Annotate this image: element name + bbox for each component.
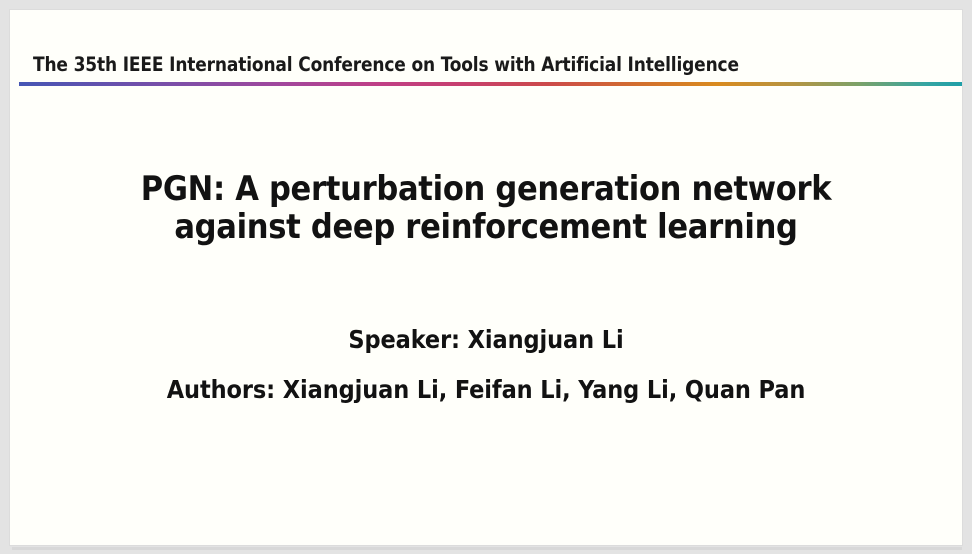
slide-body: PGN: A perturbation generation network a…	[10, 86, 962, 545]
presentation-title: PGN: A perturbation generation network a…	[10, 170, 962, 246]
presentation-title-line-1: PGN: A perturbation generation network	[70, 170, 902, 208]
speaker-label: Speaker: Xiangjuan Li	[10, 325, 962, 354]
authors-label: Authors: Xiangjuan Li, Feifan Li, Yang L…	[10, 375, 962, 404]
conference-title: The 35th IEEE International Conference o…	[33, 53, 739, 76]
slide-bottom-shadow	[12, 547, 962, 550]
slide-viewer: The 35th IEEE International Conference o…	[0, 0, 972, 554]
presentation-title-line-2: against deep reinforcement learning	[70, 208, 902, 246]
presentation-slide: The 35th IEEE International Conference o…	[9, 9, 963, 546]
slide-header: The 35th IEEE International Conference o…	[10, 10, 962, 82]
